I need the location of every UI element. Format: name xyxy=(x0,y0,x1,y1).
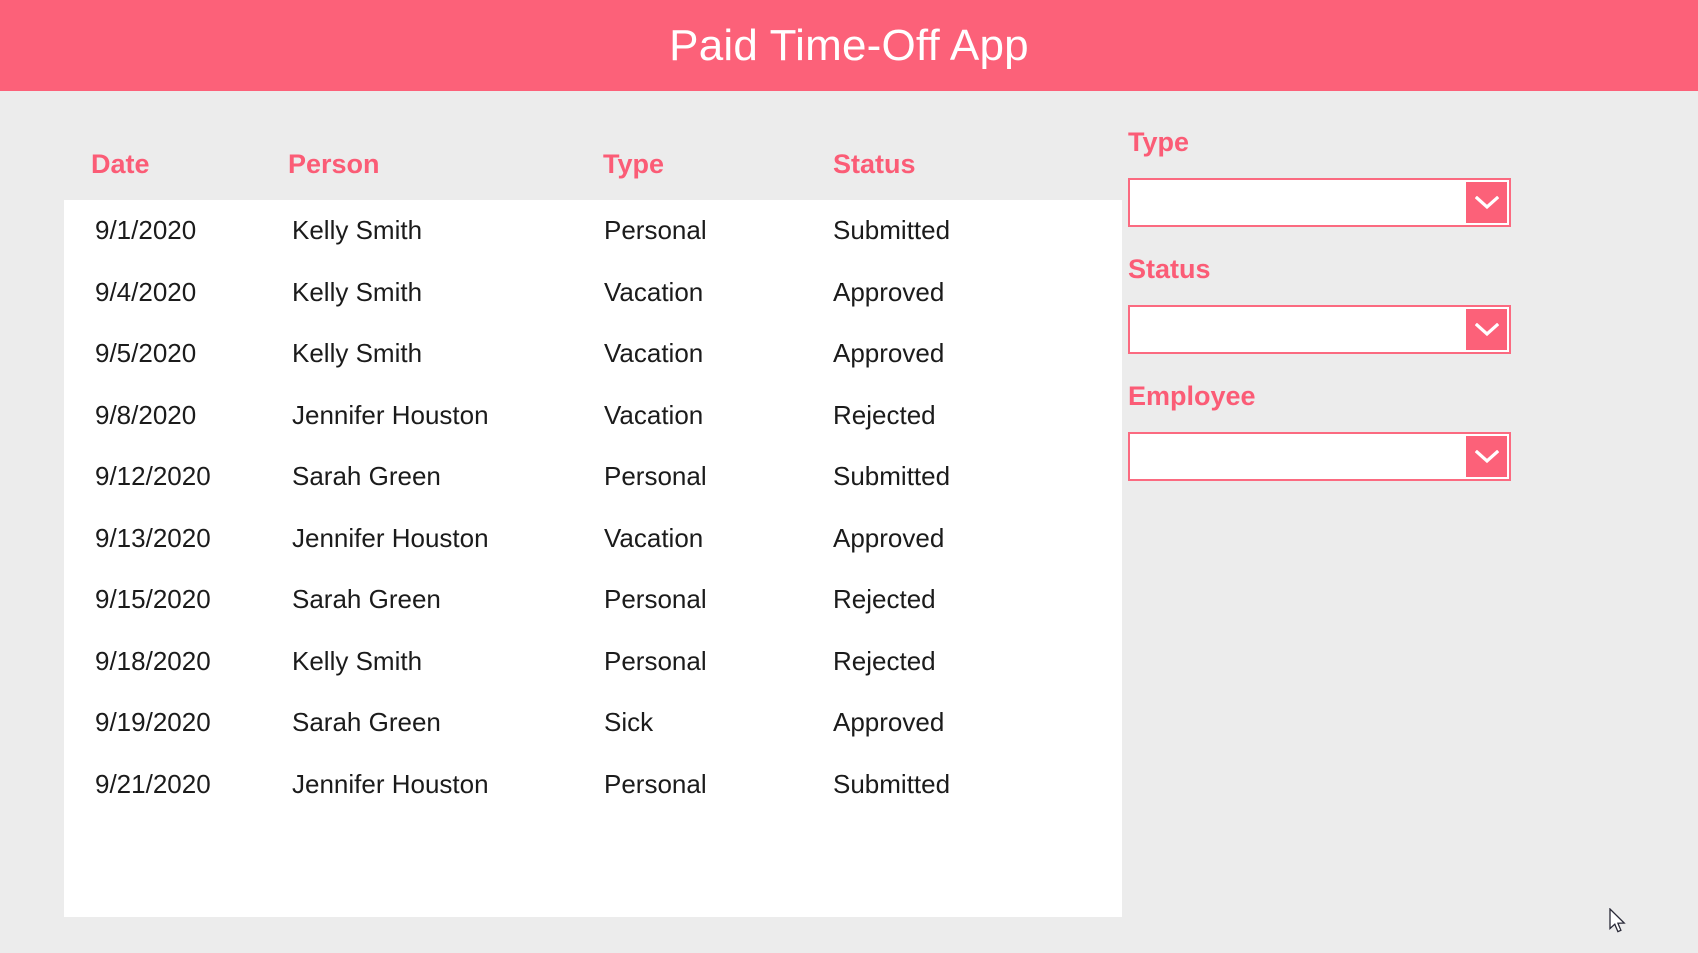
table-row[interactable]: 9/1/2020 Kelly Smith Personal Submitted xyxy=(64,200,1122,262)
cell-date: 9/18/2020 xyxy=(64,646,264,677)
table-row[interactable]: 9/4/2020 Kelly Smith Vacation Approved xyxy=(64,262,1122,324)
cell-status: Approved xyxy=(804,523,1092,554)
cell-type: Vacation xyxy=(574,338,804,369)
cell-type: Personal xyxy=(574,584,804,615)
cell-type: Vacation xyxy=(574,277,804,308)
cell-status: Rejected xyxy=(804,646,1092,677)
table-row[interactable]: 9/19/2020 Sarah Green Sick Approved xyxy=(64,692,1122,754)
column-header-person: Person xyxy=(264,149,574,180)
status-dropdown[interactable] xyxy=(1128,305,1511,354)
cell-date: 9/8/2020 xyxy=(64,400,264,431)
cell-date: 9/19/2020 xyxy=(64,707,264,738)
cell-type: Personal xyxy=(574,461,804,492)
cell-person: Sarah Green xyxy=(264,707,574,738)
cell-status: Submitted xyxy=(804,461,1092,492)
cell-person: Jennifer Houston xyxy=(264,769,574,800)
app-header: Paid Time-Off App xyxy=(0,0,1698,91)
table-row[interactable]: 9/12/2020 Sarah Green Personal Submitted xyxy=(64,446,1122,508)
cell-date: 9/21/2020 xyxy=(64,769,264,800)
cell-person: Jennifer Houston xyxy=(264,400,574,431)
cell-date: 9/12/2020 xyxy=(64,461,264,492)
table-row[interactable]: 9/8/2020 Jennifer Houston Vacation Rejec… xyxy=(64,385,1122,447)
cell-status: Rejected xyxy=(804,584,1092,615)
cell-date: 9/13/2020 xyxy=(64,523,264,554)
gallery-rows[interactable]: 9/1/2020 Kelly Smith Personal Submitted … xyxy=(64,200,1122,917)
gallery-column-headers: Date Person Type Status xyxy=(64,129,1122,200)
cell-date: 9/15/2020 xyxy=(64,584,264,615)
cell-date: 9/5/2020 xyxy=(64,338,264,369)
cell-type: Vacation xyxy=(574,400,804,431)
cell-person: Jennifer Houston xyxy=(264,523,574,554)
cell-person: Kelly Smith xyxy=(264,338,574,369)
cell-status: Submitted xyxy=(804,215,1092,246)
cell-person: Kelly Smith xyxy=(264,215,574,246)
cell-status: Approved xyxy=(804,277,1092,308)
filter-group-status: Status xyxy=(1128,256,1548,354)
chevron-down-icon[interactable] xyxy=(1464,434,1509,479)
column-header-date: Date xyxy=(64,149,264,180)
cell-type: Sick xyxy=(574,707,804,738)
filter-label-employee: Employee xyxy=(1128,383,1548,410)
cell-type: Personal xyxy=(574,769,804,800)
cell-type: Personal xyxy=(574,646,804,677)
employee-dropdown[interactable] xyxy=(1128,432,1511,481)
cell-status: Approved xyxy=(804,338,1092,369)
column-header-type: Type xyxy=(574,149,804,180)
filter-label-type: Type xyxy=(1128,129,1548,156)
cell-status: Rejected xyxy=(804,400,1092,431)
type-dropdown[interactable] xyxy=(1128,178,1511,227)
cell-date: 9/4/2020 xyxy=(64,277,264,308)
filter-label-status: Status xyxy=(1128,256,1548,283)
chevron-down-icon[interactable] xyxy=(1464,180,1509,225)
time-off-gallery: Date Person Type Status 9/1/2020 Kelly S… xyxy=(64,129,1122,917)
app-canvas: Date Person Type Status 9/1/2020 Kelly S… xyxy=(0,91,1698,953)
filter-group-type: Type xyxy=(1128,129,1548,227)
cell-date: 9/1/2020 xyxy=(64,215,264,246)
cell-status: Submitted xyxy=(804,769,1092,800)
filter-panel: Type Status Em xyxy=(1128,129,1548,481)
filter-group-employee: Employee xyxy=(1128,383,1548,481)
cell-person: Sarah Green xyxy=(264,584,574,615)
cell-person: Sarah Green xyxy=(264,461,574,492)
cell-person: Kelly Smith xyxy=(264,646,574,677)
cell-status: Approved xyxy=(804,707,1092,738)
table-row[interactable]: 9/13/2020 Jennifer Houston Vacation Appr… xyxy=(64,508,1122,570)
table-row[interactable]: 9/5/2020 Kelly Smith Vacation Approved xyxy=(64,323,1122,385)
column-header-status: Status xyxy=(804,149,1092,180)
table-row[interactable]: 9/21/2020 Jennifer Houston Personal Subm… xyxy=(64,754,1122,816)
cell-type: Personal xyxy=(574,215,804,246)
page-title: Paid Time-Off App xyxy=(669,24,1029,68)
cell-type: Vacation xyxy=(574,523,804,554)
chevron-down-icon[interactable] xyxy=(1464,307,1509,352)
table-row[interactable]: 9/15/2020 Sarah Green Personal Rejected xyxy=(64,569,1122,631)
table-row[interactable]: 9/18/2020 Kelly Smith Personal Rejected xyxy=(64,631,1122,693)
cell-person: Kelly Smith xyxy=(264,277,574,308)
